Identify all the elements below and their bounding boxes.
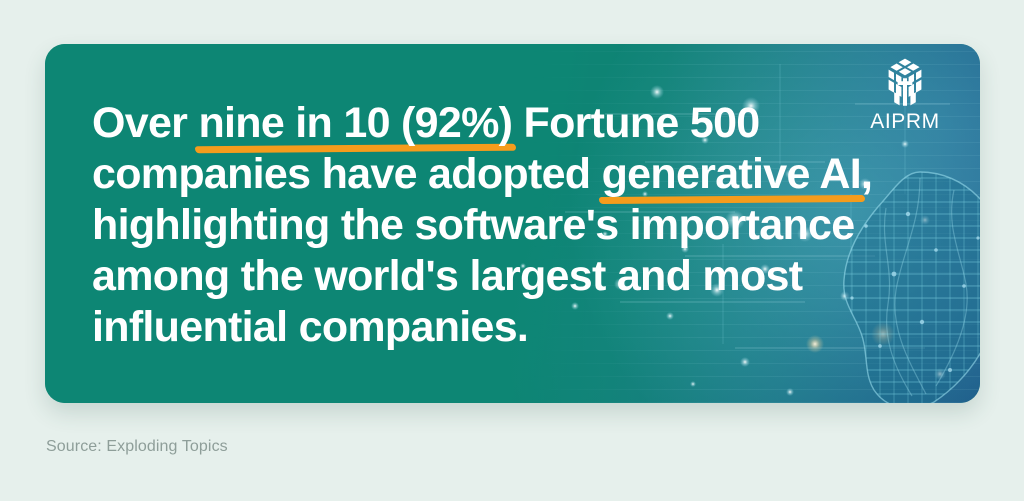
page-canvas: Over nine in 10 (92%) Fortune 500 compan… [0,0,1024,501]
headline-line-1: Over nine in 10 (92%) Fortune 500 [92,98,882,149]
headline-line-1-post: Fortune 500 [512,99,759,147]
aiprm-logo-icon [881,57,929,109]
brand-lockup: AIPRM [850,57,960,132]
headline-line-1-pre: Over [92,99,198,147]
headline-line-2-post: , [861,150,872,198]
brand-name-text: AIPRM [850,111,960,132]
page-headline: Over nine in 10 (92%) Fortune 500 compan… [92,98,882,353]
headline-line-5: influential companies. [92,302,882,353]
headline-line-2: companies have adopted generative AI, [92,149,882,200]
source-caption: Source: Exploding Topics [46,438,228,456]
quote-card: Over nine in 10 (92%) Fortune 500 compan… [45,44,980,403]
headline-line-2-pre: companies have adopted [92,150,602,198]
headline-line-4: among the world's largest and most [92,251,882,302]
headline-highlight-generative-ai: generative AI [602,149,861,200]
headline-highlight-statistic: nine in 10 (92%) [198,98,512,149]
headline-line-3: highlighting the software's importance [92,200,882,251]
